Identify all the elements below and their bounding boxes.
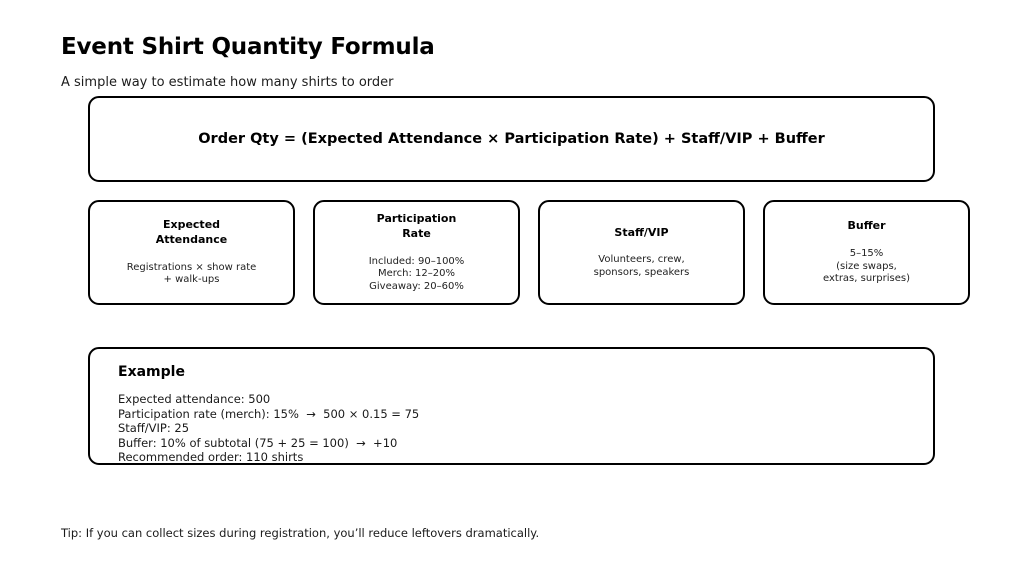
footer-tip: Tip: If you can collect sizes during reg… (61, 526, 539, 540)
example-line: Expected attendance: 500 (118, 392, 933, 407)
example-line: Recommended order: 110 shirts (118, 450, 933, 465)
page-subtitle: A simple way to estimate how many shirts… (61, 75, 393, 90)
example-box: Example Expected attendance: 500 Partici… (88, 347, 935, 465)
card-body: 5–15% (size swaps, extras, surprises) (823, 248, 910, 286)
card-title: Staff/VIP (614, 226, 668, 241)
card-staff-vip: Staff/VIP Volunteers, crew, sponsors, sp… (538, 200, 745, 305)
card-body: Volunteers, crew, sponsors, speakers (594, 254, 690, 279)
card-expected-attendance: Expected Attendance Registrations × show… (88, 200, 295, 305)
page-title: Event Shirt Quantity Formula (61, 34, 435, 60)
example-line: Participation rate (merch): 15% → 500 × … (118, 407, 933, 422)
infographic-page: Event Shirt Quantity Formula A simple wa… (0, 0, 1024, 585)
card-body: Included: 90–100% Merch: 12–20% Giveaway… (369, 256, 465, 294)
example-line: Buffer: 10% of subtotal (75 + 25 = 100) … (118, 436, 933, 451)
component-cards-row: Expected Attendance Registrations × show… (88, 200, 972, 305)
example-lines: Expected attendance: 500 Participation r… (118, 392, 933, 465)
card-body: Registrations × show rate + walk-ups (127, 262, 257, 287)
card-title: Buffer (847, 219, 885, 234)
card-participation-rate: Participation Rate Included: 90–100% Mer… (313, 200, 520, 305)
formula-box: Order Qty = (Expected Attendance × Parti… (88, 96, 935, 182)
card-title: Expected Attendance (156, 218, 227, 248)
card-title: Participation Rate (377, 212, 457, 242)
example-title: Example (118, 364, 933, 380)
card-buffer: Buffer 5–15% (size swaps, extras, surpri… (763, 200, 970, 305)
example-line: Staff/VIP: 25 (118, 421, 933, 436)
formula-text: Order Qty = (Expected Attendance × Parti… (198, 131, 825, 147)
